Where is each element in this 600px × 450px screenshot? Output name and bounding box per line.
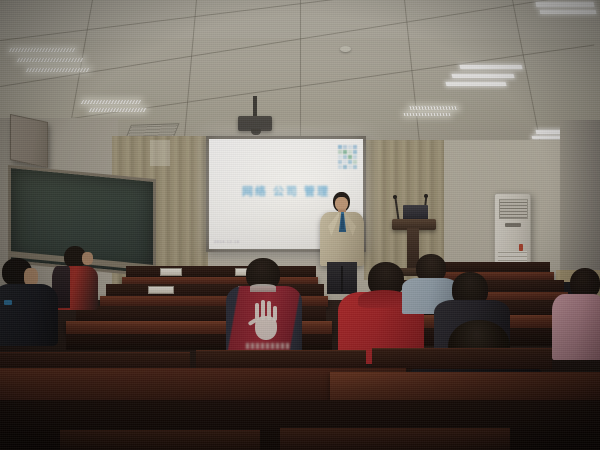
ceiling-light-fixture [26,68,90,72]
ceiling-light-fixture [460,65,523,69]
bench-seat-back-near [60,430,260,450]
vest-text [246,343,290,349]
microphone-head-icon [393,195,397,199]
bench-seat-back-near [280,428,510,450]
projector-lens-icon [251,129,261,135]
slide-decoration-grid [338,145,357,169]
ceiling-light-fixture [409,106,458,110]
ceiling-light-fixture [17,58,85,62]
ceiling-light-fixture [89,108,147,112]
shirt-collar [250,284,276,292]
ac-logo [505,223,521,227]
classroom-photo: 网络 公司 管理 2014-12-18 [0,0,600,450]
ceiling-light-fixture [81,100,141,104]
ceiling-light-fixture [536,2,595,7]
ceiling-light-fixture [446,82,507,86]
ac-top-vent [499,199,528,219]
presenter-laptop [403,205,428,220]
desk-placard [148,286,174,294]
badge [4,300,12,305]
ceiling-light-fixture [404,113,451,116]
smoke-detector-icon [340,46,351,52]
microphone-head-icon [424,194,428,198]
presenter-leg-gap [341,266,343,292]
ac-indicator-icon [519,244,523,251]
ceiling-light-fixture [452,74,515,78]
desk-placard [160,268,182,276]
ceiling-light-fixture [540,10,597,14]
curtain-window-gap [150,140,170,166]
projector-mount [253,96,257,118]
handprint-graphic [246,300,284,342]
bench-seat-back [372,348,552,369]
wall-speaker [10,114,48,168]
ceiling-light-fixture [9,48,77,52]
slide-footer-text: 2014-12-18 [214,239,239,244]
